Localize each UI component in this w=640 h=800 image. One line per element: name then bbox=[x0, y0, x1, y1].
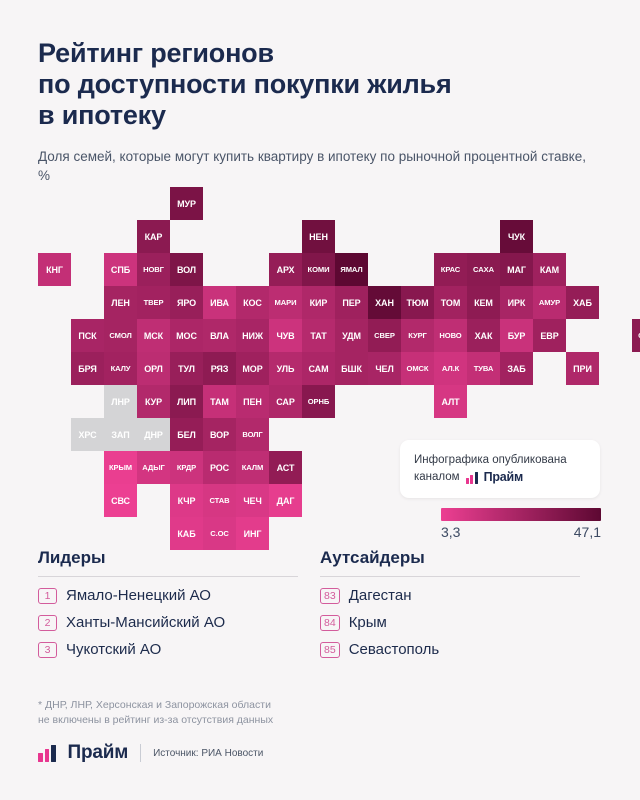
map-tile-кам[interactable]: КАМ bbox=[533, 253, 566, 286]
outsiders-region-name: Севастополь bbox=[349, 641, 440, 658]
map-tile-чук[interactable]: ЧУК bbox=[500, 220, 533, 253]
map-tile-label: СПБ bbox=[111, 265, 130, 275]
map-tile-тува[interactable]: ТУВА bbox=[467, 352, 500, 385]
map-tile-заб[interactable]: ЗАБ bbox=[500, 352, 533, 385]
map-tile-мари[interactable]: МАРИ bbox=[269, 286, 302, 319]
color-legend: 3,3 47,1 bbox=[441, 508, 601, 540]
title-line-2: по доступности покупки жилья bbox=[38, 69, 602, 100]
map-tile-label: ХАН bbox=[375, 298, 394, 308]
map-tile-ряз[interactable]: РЯЗ bbox=[203, 352, 236, 385]
map-tile-label: ВЛА bbox=[210, 331, 229, 341]
map-tile-label: ПСК bbox=[78, 331, 96, 341]
map-tile-вол[interactable]: ВОЛ bbox=[170, 253, 203, 286]
map-tile-label: ТОМ bbox=[441, 298, 460, 308]
map-tile-даг[interactable]: ДАГ bbox=[269, 484, 302, 517]
map-tile-label: АЛТ bbox=[441, 397, 459, 407]
map-tile-адыг[interactable]: АДЫГ bbox=[137, 451, 170, 484]
map-tile-крдр[interactable]: КРДР bbox=[170, 451, 203, 484]
legend-max-label: 47,1 bbox=[574, 524, 601, 540]
map-tile-мск[interactable]: МСК bbox=[137, 319, 170, 352]
footnote-line: не включены в рейтинг из-за отсутствия д… bbox=[38, 713, 273, 728]
map-tile-label: КУРГ bbox=[408, 331, 427, 340]
map-tile-смол[interactable]: СМОЛ bbox=[104, 319, 137, 352]
map-tile-хак[interactable]: ХАК bbox=[467, 319, 500, 352]
map-tile-label: МСК bbox=[144, 331, 163, 341]
map-tile-label: СМОЛ bbox=[109, 331, 131, 340]
map-tile-мур[interactable]: МУР bbox=[170, 187, 203, 220]
map-tile-label: АДЫГ bbox=[142, 463, 165, 472]
map-tile-орл[interactable]: ОРЛ bbox=[137, 352, 170, 385]
map-tile-калм[interactable]: КАЛМ bbox=[236, 451, 269, 484]
map-tile-label: КРАС bbox=[441, 265, 460, 274]
map-tile-label: ЯРО bbox=[177, 298, 196, 308]
map-tile-label: ОРЛ bbox=[144, 364, 162, 374]
map-tile-label: САМ bbox=[309, 364, 329, 374]
footer: Прайм Источник: РИА Новости bbox=[38, 742, 263, 764]
map-tile-мор[interactable]: МОР bbox=[236, 352, 269, 385]
map-tile-кур[interactable]: КУР bbox=[137, 385, 170, 418]
map-tile-ива[interactable]: ИВА bbox=[203, 286, 236, 319]
map-tile-алт[interactable]: АЛТ bbox=[434, 385, 467, 418]
map-tile-label: АМУР bbox=[539, 298, 560, 307]
map-tile-label: ИНГ bbox=[244, 529, 262, 539]
map-tile-тюм[interactable]: ТЮМ bbox=[401, 286, 434, 319]
map-tile-label: НОВО bbox=[439, 331, 461, 340]
map-tile-инг[interactable]: ИНГ bbox=[236, 517, 269, 550]
outsiders-row: 83Дагестан bbox=[320, 587, 602, 604]
map-tile-спб[interactable]: СПБ bbox=[104, 253, 137, 286]
map-tile-label: ЗАП bbox=[111, 430, 129, 440]
map-tile-label: ЕВР bbox=[540, 331, 558, 341]
map-tile-хан[interactable]: ХАН bbox=[368, 286, 401, 319]
map-tile-label: КАЛУ bbox=[111, 364, 131, 373]
leaders-row: 3Чукотский АО bbox=[38, 641, 320, 658]
map-tile-пск[interactable]: ПСК bbox=[71, 319, 104, 352]
footnote-line: * ДНР, ЛНР, Херсонская и Запорожская обл… bbox=[38, 698, 273, 713]
map-tile-арх[interactable]: АРХ bbox=[269, 253, 302, 286]
map-tile-label: МАРИ bbox=[275, 298, 297, 307]
map-tile-label: КАР bbox=[145, 232, 163, 242]
map-tile-коми[interactable]: КОМИ bbox=[302, 253, 335, 286]
outsiders-divider bbox=[320, 576, 580, 577]
map-tile-label: ЧЕЛ bbox=[375, 364, 393, 374]
map-tile-label: СВЕР bbox=[374, 331, 395, 340]
map-tile-label: ИРК bbox=[508, 298, 526, 308]
map-tile-при[interactable]: ПРИ bbox=[566, 352, 599, 385]
map-tile-label: УДМ bbox=[342, 331, 361, 341]
map-tile-label: БУР bbox=[508, 331, 526, 341]
map-tile-label: САР bbox=[276, 397, 294, 407]
outsiders-heading: Аутсайдеры bbox=[320, 548, 602, 576]
map-tile-label: МОС bbox=[176, 331, 197, 341]
map-tile-маг[interactable]: МАГ bbox=[500, 253, 533, 286]
map-tile-тат[interactable]: ТАТ bbox=[302, 319, 335, 352]
footnote: * ДНР, ЛНР, Херсонская и Запорожская обл… bbox=[38, 698, 273, 728]
map-tile-label: ВОЛ bbox=[177, 265, 196, 275]
leaders-region-name: Ханты-Мансийский АО bbox=[66, 614, 225, 631]
infographic-page: Рейтинг регионов по доступности покупки … bbox=[0, 0, 640, 800]
map-tile-кем[interactable]: КЕМ bbox=[467, 286, 500, 319]
map-tile-рос[interactable]: РОС bbox=[203, 451, 236, 484]
map-tile-label: АРХ bbox=[277, 265, 295, 275]
outsiders-row: 84Крым bbox=[320, 614, 602, 631]
map-tile-амур[interactable]: АМУР bbox=[533, 286, 566, 319]
map-tile-пен[interactable]: ПЕН bbox=[236, 385, 269, 418]
map-tile-label: АЛ.К bbox=[442, 364, 459, 373]
map-tile-бшк[interactable]: БШК bbox=[335, 352, 368, 385]
outsiders-rank-badge: 84 bbox=[320, 615, 340, 631]
map-tile-label: ХРС bbox=[79, 430, 97, 440]
map-tile-волг[interactable]: ВОЛГ bbox=[236, 418, 269, 451]
map-tile-label: МАГ bbox=[507, 265, 526, 275]
map-tile-label: КАЛМ bbox=[242, 463, 263, 472]
outsiders-column: Аутсайдеры 83Дагестан84Крым85Севастополь bbox=[320, 548, 602, 658]
map-tile-label: РЯЗ bbox=[211, 364, 229, 374]
map-tile-label: КНГ bbox=[46, 265, 63, 275]
map-tile-орнб[interactable]: ОРНБ bbox=[302, 385, 335, 418]
map-tile-label: ТАМ bbox=[210, 397, 229, 407]
map-tile-бел[interactable]: БЕЛ bbox=[170, 418, 203, 451]
map-tile-label: УЛЬ bbox=[277, 364, 295, 374]
map-tile-вор[interactable]: ВОР bbox=[203, 418, 236, 451]
map-tile-кар[interactable]: КАР bbox=[137, 220, 170, 253]
outsiders-rank-badge: 85 bbox=[320, 642, 340, 658]
map-tile-лен[interactable]: ЛЕН bbox=[104, 286, 137, 319]
map-tile-алк[interactable]: АЛ.К bbox=[434, 352, 467, 385]
map-tile-label: ИВА bbox=[210, 298, 229, 308]
map-tile-label: КОМИ bbox=[308, 265, 330, 274]
leaders-divider bbox=[38, 576, 298, 577]
map-tile-кчр[interactable]: КЧР bbox=[170, 484, 203, 517]
legend-gradient-bar bbox=[441, 508, 601, 521]
map-tile-ямал[interactable]: ЯМАЛ bbox=[335, 253, 368, 286]
map-tile-label: МУР bbox=[177, 199, 196, 209]
map-tile-свер[interactable]: СВЕР bbox=[368, 319, 401, 352]
map-tile-label: ТВЕР bbox=[144, 298, 164, 307]
map-tile-кос[interactable]: КОС bbox=[236, 286, 269, 319]
map-tile-label: ОРНБ bbox=[308, 397, 330, 406]
map-tile-label: САХА bbox=[473, 265, 494, 274]
map-tile-калу[interactable]: КАЛУ bbox=[104, 352, 137, 385]
prime-logo-icon bbox=[38, 745, 56, 762]
leaders-region-name: Чукотский АО bbox=[66, 641, 161, 658]
map-tile-ниж[interactable]: НИЖ bbox=[236, 319, 269, 352]
map-tile-кир[interactable]: КИР bbox=[302, 286, 335, 319]
map-tile-label: ЗАБ bbox=[507, 364, 525, 374]
map-tile-label: КОС bbox=[243, 298, 262, 308]
map-tile-том[interactable]: ТОМ bbox=[434, 286, 467, 319]
map-tile-лип[interactable]: ЛИП bbox=[170, 385, 203, 418]
map-tile-label: ПЕР bbox=[342, 298, 360, 308]
map-tile-сам[interactable]: САМ bbox=[302, 352, 335, 385]
title-line-1: Рейтинг регионов bbox=[38, 38, 602, 69]
map-tile-крас[interactable]: КРАС bbox=[434, 253, 467, 286]
map-tile-аст[interactable]: АСТ bbox=[269, 451, 302, 484]
map-tile-label: НЕН bbox=[309, 232, 328, 242]
map-tile-евр[interactable]: ЕВР bbox=[533, 319, 566, 352]
map-tile-label: АСТ bbox=[277, 463, 295, 473]
prime-logo-icon bbox=[466, 472, 478, 484]
map-tile-хаб[interactable]: ХАБ bbox=[566, 286, 599, 319]
leaders-row: 2Ханты-Мансийский АО bbox=[38, 614, 320, 631]
map-tile-label: КИР bbox=[310, 298, 328, 308]
outsiders-rank-badge: 83 bbox=[320, 588, 340, 604]
map-tile-твер[interactable]: ТВЕР bbox=[137, 286, 170, 319]
map-tile-пер[interactable]: ПЕР bbox=[335, 286, 368, 319]
page-title: Рейтинг регионов по доступности покупки … bbox=[38, 38, 602, 131]
map-tile-омск[interactable]: ОМСК bbox=[401, 352, 434, 385]
leaders-rank-badge: 2 bbox=[38, 615, 57, 631]
map-tile-кург[interactable]: КУРГ bbox=[401, 319, 434, 352]
attribution-callout: Инфографика опубликована каналом Прайм bbox=[400, 440, 600, 498]
map-tile-свс[interactable]: СВС bbox=[104, 484, 137, 517]
map-tile-label: ЧУВ bbox=[276, 331, 294, 341]
map-tile-новг[interactable]: НОВГ bbox=[137, 253, 170, 286]
map-tile-днр[interactable]: ДНР bbox=[137, 418, 170, 451]
map-tile-label: ХАБ bbox=[573, 298, 592, 308]
footer-divider bbox=[140, 744, 141, 762]
map-tile-label: КЧР bbox=[178, 496, 196, 506]
map-tile-label: НОВГ bbox=[143, 265, 164, 274]
map-tile-label: ЯМАЛ bbox=[340, 265, 362, 274]
map-tile-label: НИЖ bbox=[242, 331, 263, 341]
map-tile-крым[interactable]: КРЫМ bbox=[104, 451, 137, 484]
map-tile-чеч[interactable]: ЧЕЧ bbox=[236, 484, 269, 517]
map-tile-label: ДНР bbox=[144, 430, 163, 440]
map-tile-нен[interactable]: НЕН bbox=[302, 220, 335, 253]
map-tile-чув[interactable]: ЧУВ bbox=[269, 319, 302, 352]
title-line-3: в ипотеку bbox=[38, 100, 602, 131]
map-tile-label: КРДР bbox=[177, 463, 196, 472]
map-tile-label: ВОР bbox=[210, 430, 229, 440]
map-tile-label: ПРИ bbox=[573, 364, 592, 374]
map-tile-label: БЕЛ bbox=[177, 430, 196, 440]
map-tile-label: ТЮМ bbox=[407, 298, 429, 308]
map-tile-мос[interactable]: МОС bbox=[170, 319, 203, 352]
callout-line-1: Инфографика опубликована bbox=[414, 452, 586, 469]
map-tile-label: МОР bbox=[242, 364, 262, 374]
outsiders-region-name: Дагестан bbox=[349, 587, 412, 604]
outsiders-row: 85Севастополь bbox=[320, 641, 602, 658]
map-tile-сос[interactable]: С.ОС bbox=[203, 517, 236, 550]
map-tile-label: ЛЕН bbox=[111, 298, 130, 308]
map-tile-label: КАМ bbox=[540, 265, 559, 275]
outsiders-region-name: Крым bbox=[349, 614, 387, 631]
map-tile-label: ОМСК bbox=[407, 364, 429, 373]
map-tile-бря[interactable]: БРЯ bbox=[71, 352, 104, 385]
map-tile-label: РОС bbox=[210, 463, 229, 473]
map-tile-label: ТАТ bbox=[310, 331, 326, 341]
header: Рейтинг регионов по доступности покупки … bbox=[0, 0, 640, 185]
map-tile-label: ДАГ bbox=[277, 496, 295, 506]
map-tile-яро[interactable]: ЯРО bbox=[170, 286, 203, 319]
footer-brand-name: Прайм bbox=[68, 742, 129, 764]
map-tile-label: СТАВ bbox=[209, 496, 229, 505]
map-tile-вла[interactable]: ВЛА bbox=[203, 319, 236, 352]
map-tile-label: ЧЕЧ bbox=[243, 496, 261, 506]
callout-brand-name: Прайм bbox=[484, 469, 524, 486]
map-tile-кнг[interactable]: КНГ bbox=[38, 253, 71, 286]
map-tile-лнр[interactable]: ЛНР bbox=[104, 385, 137, 418]
leaders-rank-badge: 3 bbox=[38, 642, 57, 658]
map-tile-став[interactable]: СТАВ bbox=[203, 484, 236, 517]
map-tile-зап[interactable]: ЗАП bbox=[104, 418, 137, 451]
map-tile-label: ЧУК bbox=[508, 232, 525, 242]
map-tile-тул[interactable]: ТУЛ bbox=[170, 352, 203, 385]
map-tile-схлн[interactable]: СХЛН bbox=[632, 319, 640, 352]
map-tile-label: ЛНР bbox=[111, 397, 130, 407]
callout-line-2: каналом bbox=[414, 469, 460, 486]
map-tile-label: ХАК bbox=[475, 331, 493, 341]
map-tile-label: С.ОС bbox=[210, 529, 229, 538]
map-tile-label: ПЕН bbox=[243, 397, 262, 407]
map-tile-label: БРЯ bbox=[78, 364, 96, 374]
map-tile-label: КУР bbox=[145, 397, 162, 407]
map-tile-label: ЛИП bbox=[177, 397, 196, 407]
leaders-region-name: Ямало-Ненецкий АО bbox=[66, 587, 211, 604]
map-tile-label: ВОЛГ bbox=[242, 430, 262, 439]
leaders-row: 1Ямало-Ненецкий АО bbox=[38, 587, 320, 604]
map-tile-там[interactable]: ТАМ bbox=[203, 385, 236, 418]
map-tile-label: ТУЛ bbox=[178, 364, 195, 374]
map-tile-бур[interactable]: БУР bbox=[500, 319, 533, 352]
source-label: Источник: РИА Новости bbox=[153, 748, 263, 759]
legend-min-label: 3,3 bbox=[441, 524, 460, 540]
map-tile-label: КАБ bbox=[177, 529, 195, 539]
leaders-rank-badge: 1 bbox=[38, 588, 57, 604]
map-tile-ново[interactable]: НОВО bbox=[434, 319, 467, 352]
rankings-section: Лидеры 1Ямало-Ненецкий АО2Ханты-Мансийск… bbox=[38, 548, 602, 658]
leaders-column: Лидеры 1Ямало-Ненецкий АО2Ханты-Мансийск… bbox=[38, 548, 320, 658]
map-tile-саха[interactable]: САХА bbox=[467, 253, 500, 286]
leaders-heading: Лидеры bbox=[38, 548, 320, 576]
map-tile-хрс[interactable]: ХРС bbox=[71, 418, 104, 451]
map-tile-label: СВС bbox=[111, 496, 130, 506]
map-tile-label: КЕМ bbox=[474, 298, 493, 308]
map-tile-ирк[interactable]: ИРК bbox=[500, 286, 533, 319]
map-tile-каб[interactable]: КАБ bbox=[170, 517, 203, 550]
map-tile-label: ТУВА bbox=[474, 364, 494, 373]
map-tile-удм[interactable]: УДМ bbox=[335, 319, 368, 352]
map-tile-чел[interactable]: ЧЕЛ bbox=[368, 352, 401, 385]
map-tile-уль[interactable]: УЛЬ bbox=[269, 352, 302, 385]
map-tile-label: КРЫМ bbox=[109, 463, 132, 472]
map-tile-сар[interactable]: САР bbox=[269, 385, 302, 418]
map-tile-label: БШК bbox=[341, 364, 362, 374]
page-subtitle: Доля семей, которые могут купить квартир… bbox=[38, 147, 598, 185]
